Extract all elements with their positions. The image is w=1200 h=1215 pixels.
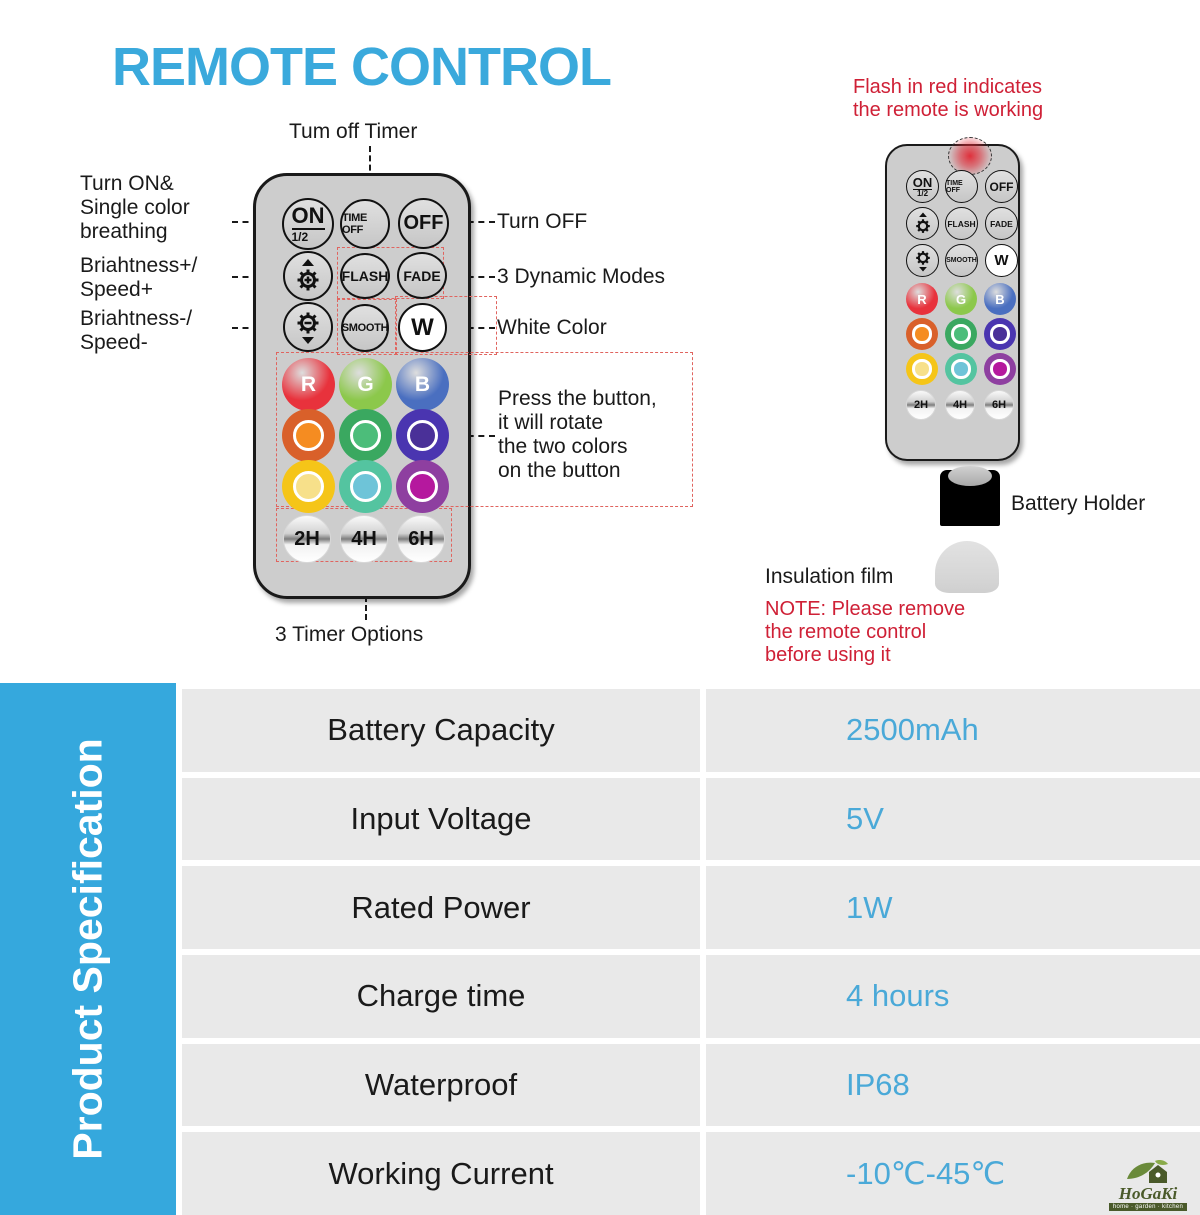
timer-button-6h[interactable]: 6H [397, 515, 445, 563]
callout-brightness-down: Briahtness-/ Speed- [80, 307, 192, 355]
callout-turn-off-timer: Tum off Timer [289, 120, 417, 144]
spec-row-value: 1W [706, 866, 1200, 949]
spec-row: WaterproofIP68 [182, 1044, 1200, 1127]
color-button-emerald[interactable] [339, 409, 392, 462]
brightness-up-icon [912, 211, 934, 236]
color-button-inner-ring [951, 324, 970, 343]
color-button-inner-ring [912, 324, 931, 343]
insulation-film [935, 541, 999, 593]
button-time-off-small[interactable]: TIME OFF [945, 170, 978, 203]
button-on[interactable]: ON 1/2 [282, 198, 334, 250]
spec-row-value: 5V [706, 778, 1200, 861]
timer-button-4h[interactable]: 4H [340, 515, 388, 563]
button-off-small[interactable]: OFF [985, 170, 1018, 203]
color-button-label: B [415, 373, 430, 397]
timer-button-6h[interactable]: 6H [984, 390, 1014, 420]
spec-row-key: Charge time [182, 955, 700, 1038]
label-battery-holder: Battery Holder [1011, 492, 1145, 516]
ir-flash-indicator [948, 137, 992, 175]
color-button-label: B [995, 292, 1004, 307]
color-button-r1c0[interactable] [906, 318, 938, 350]
button-smooth-small[interactable]: SMOOTH [945, 244, 978, 277]
timer-button-label: 2H [294, 528, 320, 551]
color-button-inner-ring [350, 471, 382, 503]
color-button-indigo[interactable] [396, 409, 449, 462]
brand-name: HoGaKi [1119, 1185, 1178, 1202]
button-off-label: OFF [404, 212, 444, 235]
color-button-red[interactable]: R [282, 358, 335, 411]
spec-row-key: Battery Capacity [182, 689, 700, 772]
color-button-r1c2[interactable] [984, 318, 1016, 350]
button-smooth-label: SMOOTH [342, 322, 388, 334]
color-button-r0c1[interactable]: G [945, 283, 977, 315]
button-fade-small-label: FADE [990, 219, 1013, 229]
button-flash-small[interactable]: FLASH [945, 207, 978, 240]
button-smooth[interactable]: SMOOTH [341, 304, 389, 352]
spec-sidebar: Product Specification [0, 683, 176, 1215]
color-button-label: R [917, 292, 926, 307]
spec-row: Working Current-10℃-45℃ [182, 1132, 1200, 1215]
color-button-inner-ring [407, 471, 439, 503]
spec-row: Rated Power1W [182, 866, 1200, 949]
timer-button-label: 4H [953, 399, 967, 411]
color-button-r2c2[interactable] [984, 353, 1016, 385]
button-flash[interactable]: FLASH [340, 253, 390, 299]
spec-row-key: Rated Power [182, 866, 700, 949]
color-button-r2c1[interactable] [945, 353, 977, 385]
color-button-r2c0[interactable] [906, 353, 938, 385]
color-button-r0c0[interactable]: R [906, 283, 938, 315]
spec-row-key: Input Voltage [182, 778, 700, 861]
color-button-inner-ring [407, 420, 439, 452]
color-button-inner-ring [912, 359, 931, 378]
label-insulation-film: Insulation film [765, 565, 893, 589]
brightness-down-icon [291, 308, 325, 346]
spec-row-key: Waterproof [182, 1044, 700, 1127]
button-on-label: ON [292, 203, 325, 228]
timer-button-label: 4H [351, 528, 377, 551]
spec-row: Battery Capacity2500mAh [182, 689, 1200, 772]
callout-dynamic-modes: 3 Dynamic Modes [497, 265, 665, 289]
spec-row-value: IP68 [706, 1044, 1200, 1127]
button-off[interactable]: OFF [398, 198, 449, 249]
color-button-label: G [357, 373, 373, 397]
color-button-inner-ring [350, 420, 382, 452]
button-on-small[interactable]: ON 1/2 [906, 170, 939, 203]
callout-timer-options: 3 Timer Options [275, 623, 423, 647]
color-button-yellow[interactable] [282, 460, 335, 513]
button-fade-small[interactable]: FADE [985, 207, 1018, 240]
spec-table: Battery Capacity2500mAhInput Voltage5VRa… [176, 683, 1200, 1215]
button-flash-label: FLASH [342, 268, 389, 284]
timer-button-label: 2H [914, 399, 928, 411]
button-on-sublabel: 1/2 [292, 228, 325, 243]
timer-button-2h[interactable]: 2H [906, 390, 936, 420]
color-button-r1c1[interactable] [945, 318, 977, 350]
color-button-r0c2[interactable]: B [984, 283, 1016, 315]
brightness-down-icon [912, 248, 934, 273]
color-button-green[interactable]: G [339, 358, 392, 411]
timer-button-label: 6H [992, 399, 1006, 411]
color-button-inner-ring [990, 359, 1009, 378]
button-white-small[interactable]: W [985, 244, 1018, 277]
button-on-small-sublabel: 1/2 [913, 189, 933, 198]
spec-row-key: Working Current [182, 1132, 700, 1215]
timer-button-4h[interactable]: 4H [945, 390, 975, 420]
callout-turn-off: Turn OFF [497, 210, 587, 234]
leaf-house-logo-icon [1125, 1159, 1171, 1185]
color-button-inner-ring [951, 359, 970, 378]
timer-button-2h[interactable]: 2H [283, 515, 331, 563]
spec-row: Charge time4 hours [182, 955, 1200, 1038]
color-button-label: G [956, 292, 966, 307]
button-brightness-down-small[interactable] [906, 244, 939, 277]
note-remove-insulation: NOTE: Please remove the remote control b… [765, 598, 965, 666]
spec-row-value: 4 hours [706, 955, 1200, 1038]
button-smooth-small-label: SMOOTH [946, 257, 977, 264]
spec-sidebar-label: Product Specification [65, 738, 112, 1159]
callout-brightness-up: Briahtness+/ Speed+ [80, 254, 197, 302]
button-brightness-down[interactable] [283, 302, 333, 352]
spec-row: Input Voltage5V [182, 778, 1200, 861]
color-button-inner-ring [293, 420, 325, 452]
spec-row-value: 2500mAh [706, 689, 1200, 772]
button-on-small-label: ON [913, 175, 933, 190]
button-brightness-up-small[interactable] [906, 207, 939, 240]
callout-turn-on-breathing: Turn ON& Single color breathing [80, 172, 190, 244]
button-white-small-label: W [994, 252, 1008, 269]
page-title: REMOTE CONTROL [112, 36, 611, 98]
color-button-inner-ring [293, 471, 325, 503]
timer-button-label: 6H [408, 528, 434, 551]
color-button-teal[interactable] [339, 460, 392, 513]
button-fade[interactable]: FADE [397, 252, 447, 299]
button-white[interactable]: W [398, 303, 447, 352]
button-fade-label: FADE [403, 268, 440, 284]
button-off-small-label: OFF [990, 180, 1014, 194]
product-specification-section: Product Specification Battery Capacity25… [0, 683, 1200, 1215]
button-flash-small-label: FLASH [947, 219, 975, 229]
callout-white-color: White Color [497, 316, 607, 340]
brand-tagline: home · garden · kitchen [1109, 1203, 1187, 1211]
brand-logo: HoGaKi home · garden · kitchen [1102, 1151, 1194, 1211]
button-white-label: W [411, 314, 434, 342]
button-brightness-up[interactable] [283, 251, 333, 301]
button-time-off-label: TIME OFF [342, 212, 388, 236]
color-button-purple[interactable] [396, 460, 449, 513]
brightness-up-icon [291, 257, 325, 295]
color-button-orange[interactable] [282, 409, 335, 462]
color-button-inner-ring [990, 324, 1009, 343]
button-time-off-small-label: TIME OFF [946, 180, 977, 194]
color-button-blue[interactable]: B [396, 358, 449, 411]
battery-holder-top [948, 466, 992, 486]
color-button-label: R [301, 373, 316, 397]
button-time-off[interactable]: TIME OFF [340, 199, 390, 249]
callout-flash-indicator: Flash in red indicates the remote is wor… [853, 76, 1043, 122]
